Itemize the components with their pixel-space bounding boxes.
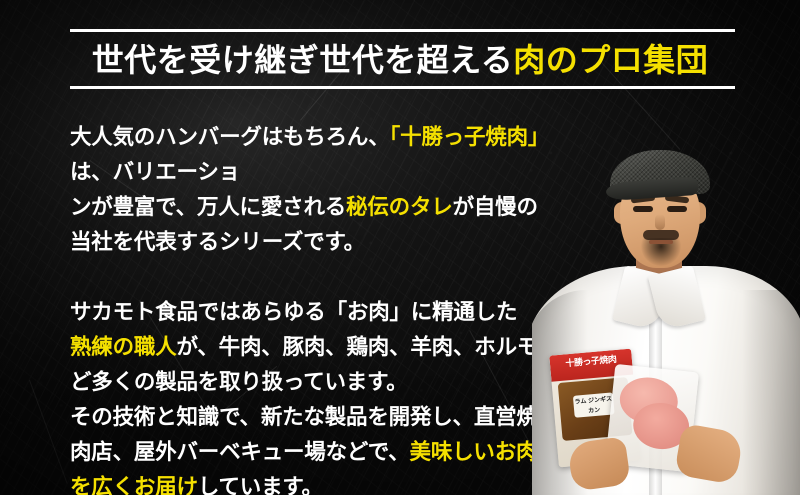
body-copy: 大人気のハンバーグはもちろん、「十勝っ子焼肉」は、バリエーショ ンが豊富で、万人… [70,120,590,495]
eye-right [667,206,687,212]
paragraph2-line4: その技術と知識で、新たな製品を開発し、直営焼 [70,400,590,435]
promo-banner: 世代を受け継ぎ世代を超える肉のプロ集団 大人気のハンバーグはもちろん、「十勝っ子… [0,0,800,495]
paragraph-gap [70,260,590,295]
paragraph1-line1: 大人気のハンバーグはもちろん、「十勝っ子焼肉」は、バリエーショ [70,120,590,190]
paragraph2-line2: 熟練の職人が、牛肉、豚肉、鶏肉、羊肉、ホルモンな [70,330,590,365]
package-sub-label: ラム ジンギスカン [573,392,615,417]
page-title-yellow: 肉のプロ集団 [513,42,708,78]
paragraph2-line6: を広くお届けしています。 [70,470,590,495]
p1l3a: 当社を代表するシリーズです。 [70,230,365,254]
mouth [649,240,673,244]
p2l4a: その技術と知識で、新たな製品を開発し、直営焼 [70,405,538,429]
p1l1a: 大人気のハンバーグはもちろん、 [70,125,390,149]
p2l5a: 肉店、屋外バーベキュー場などで、 [70,440,410,464]
shirt-shadow-right [742,290,800,495]
headline-rule-top [70,29,735,32]
p2l5b: 美味しいお肉 [410,440,538,464]
p1l1b: 「十勝っ子焼肉」 [390,125,550,149]
p1l2b: 秘伝のタレ [346,195,453,219]
staff-photo: 十勝っ子焼肉 ラム ジンギスカン [532,140,800,495]
nose [655,214,665,230]
p1l2c: が自慢の [453,195,538,219]
p2l1a: サカモト食品ではあらゆる「お肉」に精通した [70,300,517,324]
paragraph1-line2: ンが豊富で、万人に愛される秘伝のタレが自慢の [70,190,590,225]
p2l2b: が、牛肉、豚肉、鶏肉、羊肉、ホルモンな [177,335,581,359]
paragraph2-line5: 肉店、屋外バーベキュー場などで、美味しいお肉 [70,435,590,470]
headline-rule-bottom [70,86,735,89]
page-title-white: 世代を受け継ぎ世代を超える [92,42,514,78]
p1l1c: は、バリエーショ [70,160,240,184]
p2l6a: を広くお届け [70,475,198,495]
p2l2a: 熟練の職人 [70,335,177,359]
moustache [643,230,679,240]
p2l6b: しています。 [198,475,323,495]
paragraph1-line3: 当社を代表するシリーズです。 [70,225,590,260]
p2l3a: ど多くの製品を取り扱っています。 [70,370,408,394]
eye-left [633,206,653,212]
paragraph2-line3: ど多くの製品を取り扱っています。 [70,365,590,400]
page-title: 世代を受け継ぎ世代を超える肉のプロ集団 [0,40,800,80]
p1l2a: ンが豊富で、万人に愛される [70,195,346,219]
paragraph2-line1: サカモト食品ではあらゆる「お肉」に精通した [70,295,590,330]
